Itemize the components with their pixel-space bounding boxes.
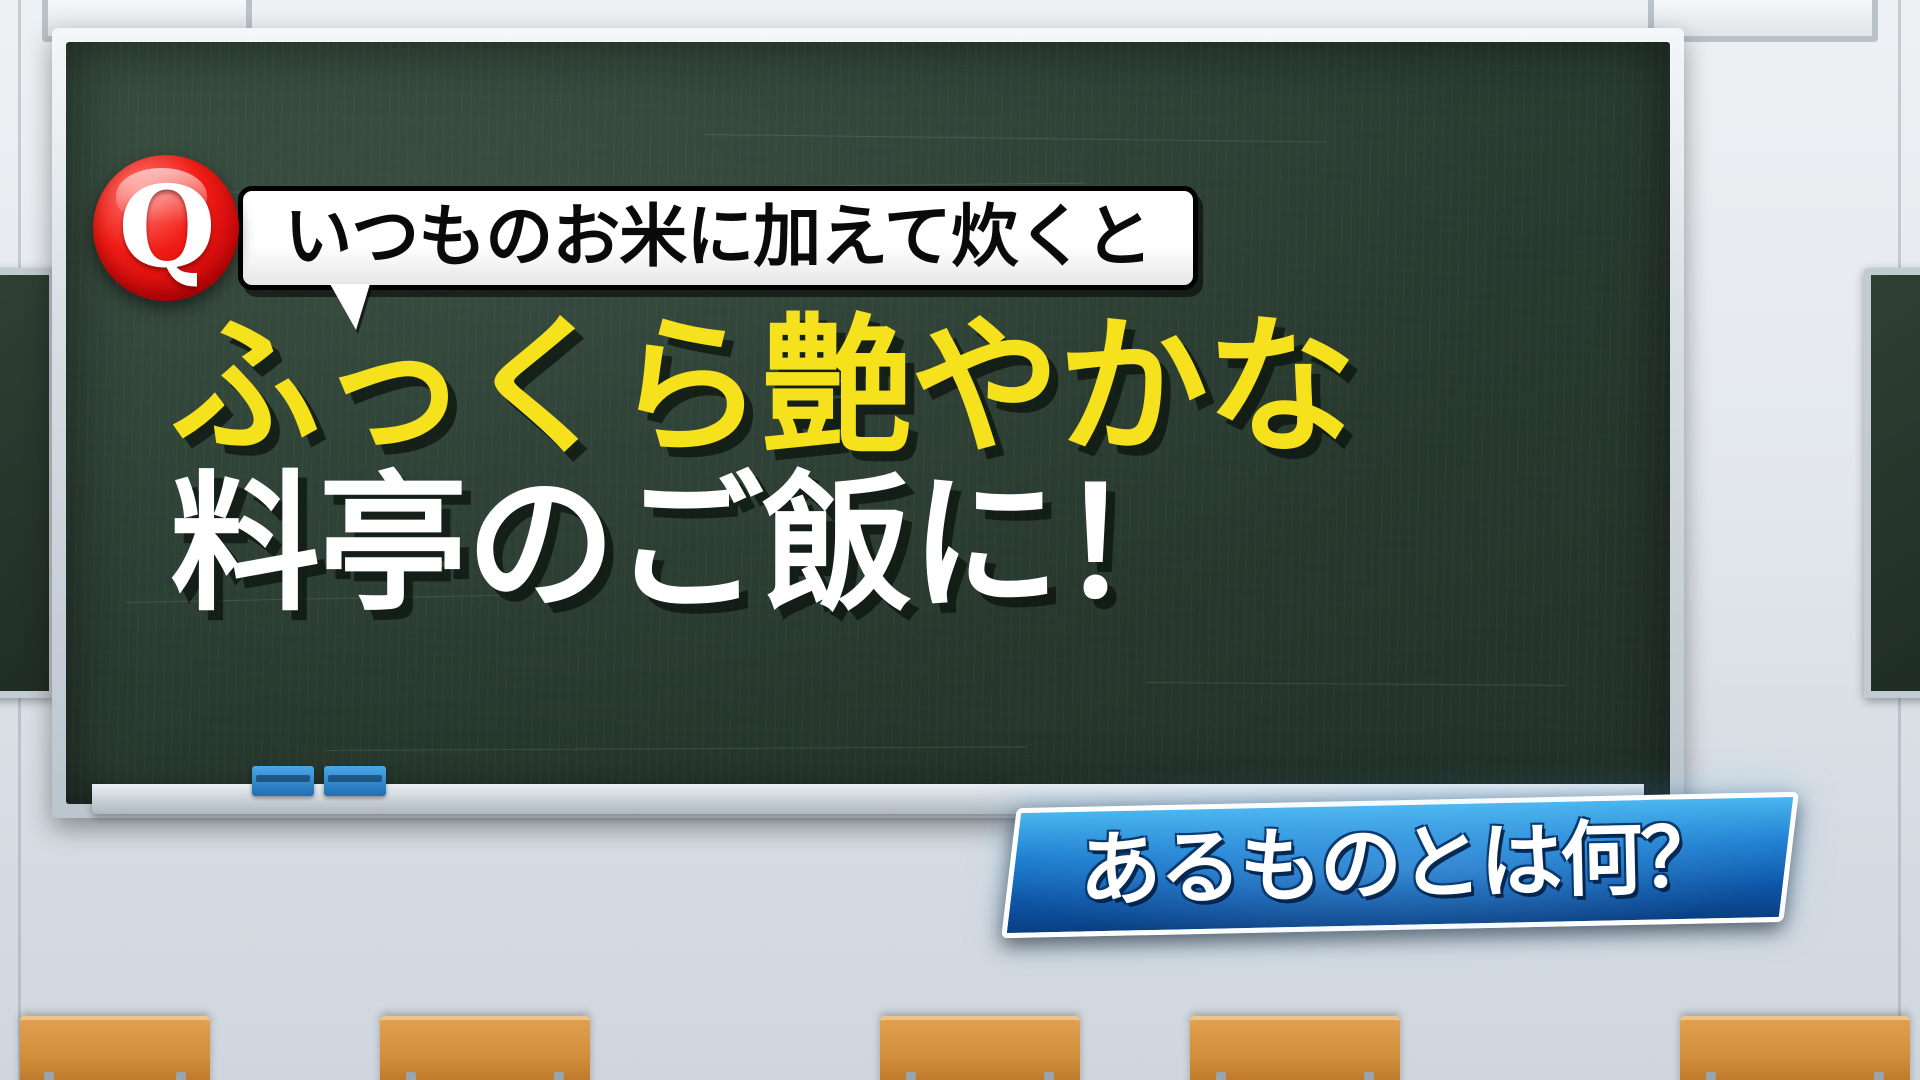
question-mark-badge: Q	[93, 155, 239, 301]
headline-line-1: ふっくら艶やかな	[170, 312, 1354, 465]
headline-line-2: 料亭のご飯に！	[170, 469, 1354, 622]
desk	[1190, 1016, 1400, 1080]
answer-prompt-banner: あるものとは何？	[1001, 792, 1799, 938]
q-letter-icon: Q	[118, 172, 214, 284]
desk	[1680, 1016, 1910, 1080]
answer-prompt-text: あるものとは何？	[1078, 817, 1722, 912]
tv-screen: Q いつものお米に加えて炊くと ふっくら艶やかな 料亭のご飯に！ あるものとは何…	[0, 0, 1920, 1080]
chalk-streak	[1146, 682, 1566, 686]
desk	[880, 1016, 1080, 1080]
side-chalkboard-right	[1864, 268, 1920, 698]
speech-bubble-tail	[330, 284, 370, 330]
chalk-eraser	[324, 766, 386, 796]
desk	[20, 1016, 210, 1080]
chalk-streak	[326, 746, 1026, 751]
question-banner-text: いつものお米に加えて炊くと	[284, 204, 1152, 272]
side-chalkboard-left	[0, 268, 56, 698]
chalk-streak	[706, 134, 1326, 143]
chalk-eraser	[252, 766, 314, 796]
headline-block: ふっくら艶やかな 料亭のご飯に！	[170, 312, 1354, 622]
question-banner: いつものお米に加えて炊くと	[238, 186, 1198, 290]
desk	[380, 1016, 590, 1080]
